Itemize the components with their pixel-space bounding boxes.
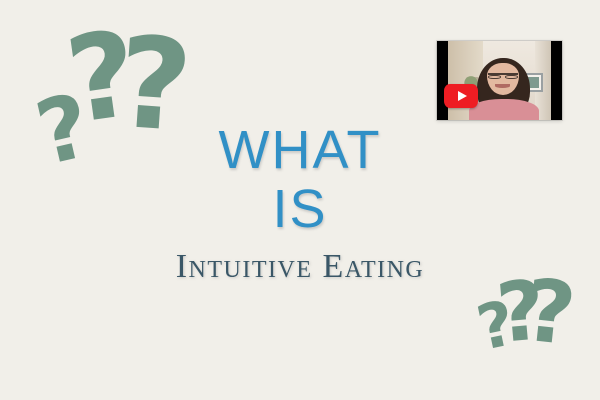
webcam-video-frame[interactable] bbox=[448, 41, 551, 120]
youtube-play-button[interactable] bbox=[444, 84, 478, 108]
glasses-icon bbox=[488, 73, 518, 79]
question-mark-icon: ? bbox=[114, 20, 196, 151]
video-overlay[interactable] bbox=[437, 41, 562, 120]
speaker-shirt bbox=[469, 99, 539, 120]
slide-canvas: ? ? ? ? ? ? WHAT IS Intuitive Eating bbox=[0, 0, 600, 400]
slide-subtitle: Intuitive Eating bbox=[0, 248, 600, 286]
title-line-is: IS bbox=[0, 183, 600, 236]
play-triangle-icon bbox=[458, 91, 467, 101]
